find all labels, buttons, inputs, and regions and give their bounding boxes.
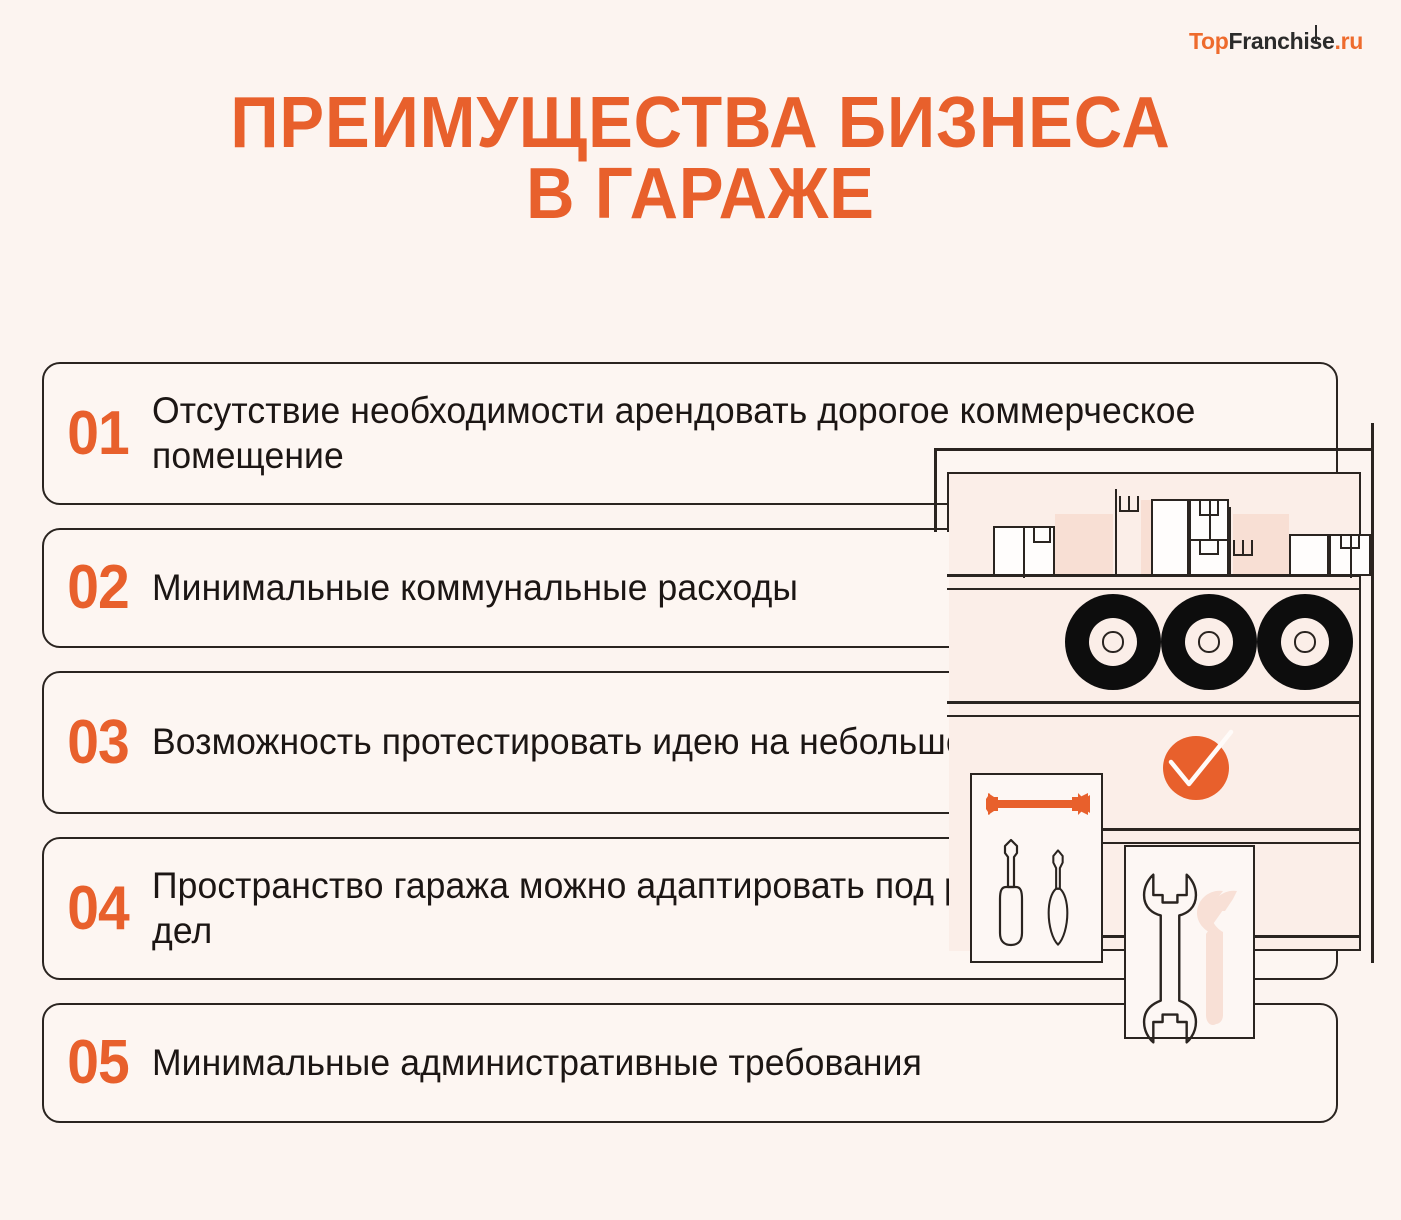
box-edge-line [1229,507,1231,576]
topfranchise-logo[interactable]: TopFranchise.ru [1189,28,1363,55]
tire [1065,594,1161,690]
cardboard-boxes-group [993,481,1353,576]
tire-hub [1102,631,1123,652]
wrench-icon [984,791,1092,817]
shelf-line [947,701,1361,704]
screwdriver-icon [996,837,1026,949]
page-title: ПРЕИМУЩЕСТВА БИЗНЕСА В ГАРАЖЕ [49,88,1352,229]
title-line-1: ПРЕИМУЩЕСТВА БИЗНЕСА [230,83,1170,163]
wrench-outline-icon [1142,871,1198,1047]
cardboard-box [1329,534,1371,576]
item-number: 04 [48,878,147,940]
garage-shelving-illustration [929,448,1374,1040]
cardboard-box [1151,499,1189,576]
logo-top-text: Top [1189,28,1229,54]
item-text: Минимальные коммунальные расходы [152,566,817,610]
item-text: Минимальные административные требования [152,1041,941,1085]
ghost-wrench-icon [1191,887,1243,1027]
title-line-2: В ГАРАЖЕ [49,159,1352,230]
logo-franchi-text: Franchi [1229,28,1310,54]
box-flap [1199,539,1219,555]
cardboard-box [1231,540,1259,576]
box-flap [1340,535,1360,549]
screwdriver-icon [1044,847,1072,949]
logo-ru-text: .ru [1335,28,1364,54]
item-number: 02 [48,557,147,619]
tire [1257,594,1353,690]
shelf-line [947,715,1361,717]
frame-right-outer-line [1371,423,1374,963]
frame-left-inner-line [947,472,949,532]
frame-left-outer-line [934,448,937,532]
infographic-page: TopFranchise.ru ПРЕИМУЩЕСТВА БИЗНЕСА В Г… [0,0,1401,1220]
shelf-line [947,588,1361,590]
box-flap [1199,500,1219,516]
item-number: 03 [48,712,147,774]
logo-dollar-s: s [1310,28,1323,54]
cardboard-box [1189,499,1229,576]
cardboard-box [1289,534,1329,576]
cardboard-box [993,526,1055,576]
logo-e-text: e [1322,28,1335,54]
cardboard-box [1115,496,1149,576]
tire-hub [1294,631,1315,652]
tire [1161,594,1257,690]
tire-hub [1198,631,1219,652]
orange-check-badge [1159,724,1243,804]
frame-top-inner-line [947,472,1361,474]
check-icon [1159,724,1243,804]
tool-panel-wrench [1124,845,1255,1039]
box-flap [1033,527,1051,543]
item-number: 05 [48,1032,147,1094]
box-edge-line [1115,489,1117,576]
pink-box [1055,514,1113,576]
tool-panel-wrench-screwdrivers [970,773,1103,963]
item-number: 01 [48,403,147,465]
shelf-line [947,574,1361,577]
frame-top-outer-line [934,448,1374,451]
